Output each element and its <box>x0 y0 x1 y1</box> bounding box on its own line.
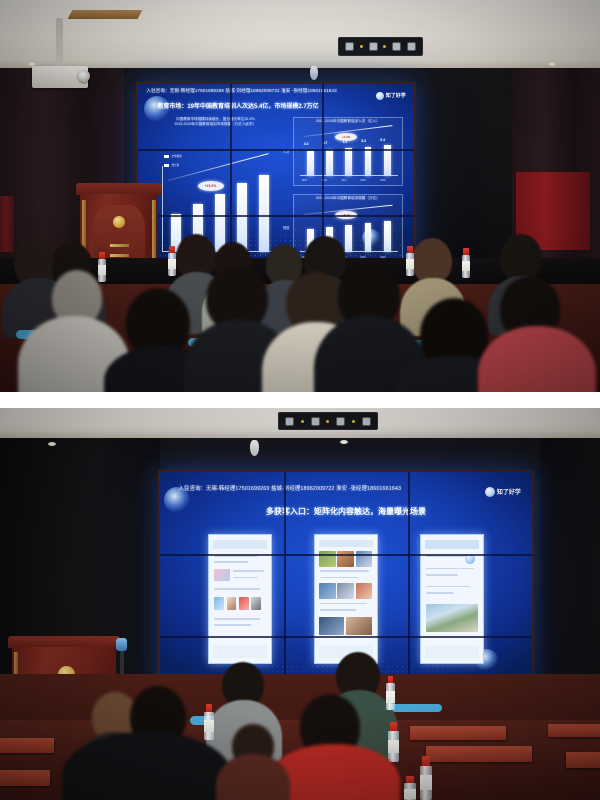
phone-feed-image <box>356 583 373 598</box>
spotlight-lamp-icon <box>311 417 320 426</box>
spotlight-lamp-icon <box>336 417 345 426</box>
phone-text-line <box>320 570 369 572</box>
chart-bottom-right-axis-label: 规模 <box>283 225 289 230</box>
spotlight-indicator-dot <box>352 420 355 423</box>
spotlight-lamp-icon <box>362 417 371 426</box>
phone-text-line <box>320 577 358 579</box>
ceiling-downlight-icon <box>28 62 36 66</box>
phone-text-line <box>214 618 259 620</box>
legend-label: 增长率 <box>171 163 179 167</box>
phone-feed-image <box>319 583 336 598</box>
audience-front-row-top <box>0 268 600 392</box>
slide-contact-line: 入驻咨询：无锡-韩经理17501699269 盐城-刘经理18962009722… <box>146 88 381 94</box>
phone-search-bar <box>425 540 479 549</box>
phone-text-line <box>214 561 248 563</box>
phone-thumbnail <box>214 597 224 610</box>
ceiling-downlight-icon <box>340 440 348 444</box>
spotlight-lamp-icon <box>392 42 401 51</box>
video-wall-seam <box>160 636 532 638</box>
slide-logo: 知了好学 <box>376 92 406 100</box>
ceiling-downlight-icon <box>548 62 556 66</box>
photo-top: 入驻咨询：无锡-韩经理17501699269 盐城-刘经理18962009722… <box>0 0 600 392</box>
ceiling-wood-panel <box>68 10 143 19</box>
phone-search-bar <box>213 540 267 549</box>
ceiling-spotlight-bar-bottom <box>278 412 378 430</box>
phone-text-line <box>214 624 251 626</box>
spotlight-lamp-icon <box>407 42 416 51</box>
phone-text-line <box>320 603 367 605</box>
chart-top-right-caption: 2015-2019年中国教育培训人次（亿人） <box>295 119 400 124</box>
chart-top-right-value-label: 4.9 <box>343 140 348 144</box>
phone-feed-image <box>319 617 343 635</box>
chart-left-caption-2: 2015-2019年中国教育培训市场规模（万亿人民币） <box>152 122 279 127</box>
chart-left-legend-1: 市场规模 <box>164 154 181 158</box>
circle-logo-icon <box>376 92 384 100</box>
legend-label: 市场规模 <box>171 154 181 158</box>
chart-top-right-bar <box>345 148 352 176</box>
chart-top-right-tick: 2018 <box>360 179 365 182</box>
slide-logo-text: 知了好学 <box>386 92 406 99</box>
chart-top-right-bar <box>326 150 333 176</box>
phone-text-line <box>426 592 454 594</box>
phone-thumbnail <box>214 569 230 581</box>
chart-bottom-right-caption: 2015-2019年中国教育培训规模（万亿） <box>295 196 400 201</box>
audience-body <box>478 326 596 392</box>
legend-swatch-icon <box>164 164 169 167</box>
video-wall-seam <box>138 215 414 217</box>
phone-bottom-nav <box>425 646 479 658</box>
screenshot-root: 入驻咨询：无锡-韩经理17501699269 盐城-刘经理18962009722… <box>0 0 600 800</box>
phone-feed-image <box>337 583 354 598</box>
chart-top-right-bar <box>307 151 314 176</box>
chart-top-right-tick: 2017 <box>341 179 346 182</box>
chart-top-right-attendance: 2015-2019年中国教育培训人次（亿人） +5.3% 4.4 4.7 4.9… <box>295 118 400 185</box>
spotlight-indicator-dot <box>301 420 304 423</box>
spotlight-lamp-icon <box>285 417 294 426</box>
audience-front-row-bottom <box>0 688 600 800</box>
phone-thumbnail <box>227 597 237 610</box>
phone-map-preview <box>426 604 479 632</box>
spotlight-indicator-dot <box>326 420 329 423</box>
phone-thumbnail <box>239 597 249 610</box>
slide-contact-line: 入驻咨询：无锡-韩经理17501699269 盐城-刘经理18962009722… <box>179 484 488 492</box>
podium-emblem-icon <box>113 216 125 228</box>
video-wall-seam <box>138 149 414 151</box>
spotlight-lamp-icon <box>345 42 354 51</box>
chart-top-right-value-label: 5.2 <box>361 139 366 143</box>
microphone-head-icon <box>116 638 127 651</box>
spotlight-indicator-dot <box>383 45 386 48</box>
slide-title: 教育市场：19年中国教育培训人次达5.4亿，市场规模2.7万亿 <box>157 101 318 110</box>
ceiling-downlight-icon <box>48 442 56 446</box>
projector-lens <box>78 70 90 82</box>
phone-bottom-nav <box>213 645 267 658</box>
phone-thumbnail <box>251 597 261 610</box>
phone-text-line <box>426 586 470 588</box>
side-wall-right-bottom <box>540 438 600 678</box>
chart-top-right-tick: 2015 <box>302 179 307 182</box>
ceiling-spotlight-bar-top <box>338 37 423 56</box>
spotlight-indicator-dot <box>360 45 363 48</box>
slide-logo: 知了好学 <box>485 487 521 497</box>
phone-feed-image <box>346 617 372 635</box>
slide-title: 多获客入口：矩阵化内容触达，海量曝光场景 <box>266 506 426 517</box>
chart-top-right-tick: 2019 <box>380 179 385 182</box>
phone-text-line <box>214 588 259 590</box>
ceiling-speaker-icon <box>310 66 318 80</box>
ceiling-speaker-icon <box>250 440 259 456</box>
video-wall-seam <box>160 554 532 556</box>
chart-top-right-value-label: 5.4 <box>380 138 385 142</box>
slide-logo-text: 知了好学 <box>497 487 521 496</box>
legend-swatch-icon <box>164 155 169 158</box>
phone-text-line <box>233 570 265 572</box>
photo-gutter <box>0 392 600 408</box>
projector-mount-pole <box>56 18 63 68</box>
phone-text-line <box>426 568 474 570</box>
circle-logo-icon <box>485 487 495 497</box>
photo-bottom: 入驻咨询：无锡-韩经理17501699269 盐城-刘经理18962009722… <box>0 408 600 800</box>
phone-text-line <box>320 609 356 611</box>
spotlight-lamp-icon <box>369 42 378 51</box>
phone-search-bar <box>319 540 373 548</box>
chart-left-legend-2: 增长率 <box>164 163 179 167</box>
phone-text-line <box>233 577 259 579</box>
phone-text-line <box>426 574 458 576</box>
